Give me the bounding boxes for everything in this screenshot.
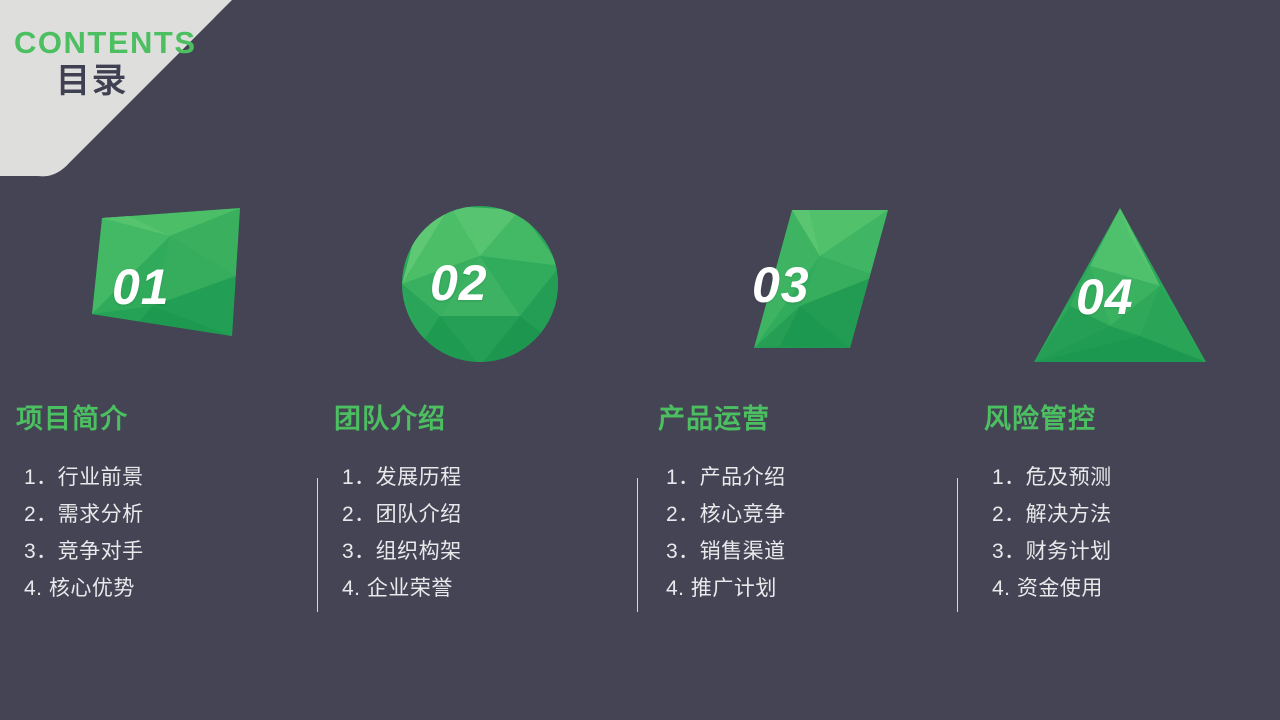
shape-parallelogram-03[interactable]: 03 [690,196,910,376]
contents-column-2[interactable]: 02 团队介绍 1．发展历程 2．团队介绍 3．组织构架 4. 企业荣誉 [320,196,640,666]
column-list-4: 1．危及预测 2．解决方法 3．财务计划 4. 资金使用 [992,459,1112,607]
contents-column-1[interactable]: 01 项目简介 1．行业前景 2．需求分析 3．竞争对手 4. 核心优势 [0,196,320,666]
list-item[interactable]: 1．发展历程 [342,459,462,496]
contents-columns: 01 项目简介 1．行业前景 2．需求分析 3．竞争对手 4. 核心优势 [0,196,1280,666]
list-item[interactable]: 3．组织构架 [342,533,462,570]
list-item[interactable]: 2．需求分析 [24,496,144,533]
list-item[interactable]: 1．行业前景 [24,459,144,496]
list-item[interactable]: 3．销售渠道 [666,533,786,570]
column-list-2: 1．发展历程 2．团队介绍 3．组织构架 4. 企业荣誉 [342,459,462,607]
list-item[interactable]: 2．核心竞争 [666,496,786,533]
list-item[interactable]: 3．竞争对手 [24,533,144,570]
list-item[interactable]: 4. 资金使用 [992,570,1112,607]
list-item[interactable]: 3．财务计划 [992,533,1112,570]
column-list-3: 1．产品介绍 2．核心竞争 3．销售渠道 4. 推广计划 [666,459,786,607]
shape-number-03: 03 [752,260,810,310]
list-item[interactable]: 1．危及预测 [992,459,1112,496]
column-list-1: 1．行业前景 2．需求分析 3．竞争对手 4. 核心优势 [24,459,144,607]
page-title: 目录 [56,64,128,98]
column-title-2: 团队介绍 [334,406,446,433]
contents-label: CONTENTS [14,27,197,58]
list-item[interactable]: 4. 核心优势 [24,570,144,607]
list-item[interactable]: 4. 企业荣誉 [342,570,462,607]
column-title-1: 项目简介 [16,406,128,433]
contents-column-3[interactable]: 03 产品运营 1．产品介绍 2．核心竞争 3．销售渠道 4. 推广计划 [640,196,960,666]
contents-column-4[interactable]: 04 风险管控 1．危及预测 2．解决方法 3．财务计划 4. 资金使用 [960,196,1280,666]
shape-number-01: 01 [112,262,170,312]
list-item[interactable]: 2．团队介绍 [342,496,462,533]
shape-number-04: 04 [1076,272,1134,322]
column-title-4: 风险管控 [984,406,1096,433]
shape-rotated-quad-01[interactable]: 01 [50,196,270,376]
column-divider-2 [637,478,638,612]
header-text-group: CONTENTS 目录 [0,0,240,140]
shape-number-02: 02 [430,258,488,308]
list-item[interactable]: 1．产品介绍 [666,459,786,496]
column-divider-1 [317,478,318,612]
column-divider-3 [957,478,958,612]
list-item[interactable]: 2．解决方法 [992,496,1112,533]
slide-canvas: CONTENTS 目录 [0,0,1280,720]
list-item[interactable]: 4. 推广计划 [666,570,786,607]
column-title-3: 产品运营 [658,406,770,433]
shape-triangle-04[interactable]: 04 [1010,196,1230,376]
shape-circle-02[interactable]: 02 [370,196,590,376]
